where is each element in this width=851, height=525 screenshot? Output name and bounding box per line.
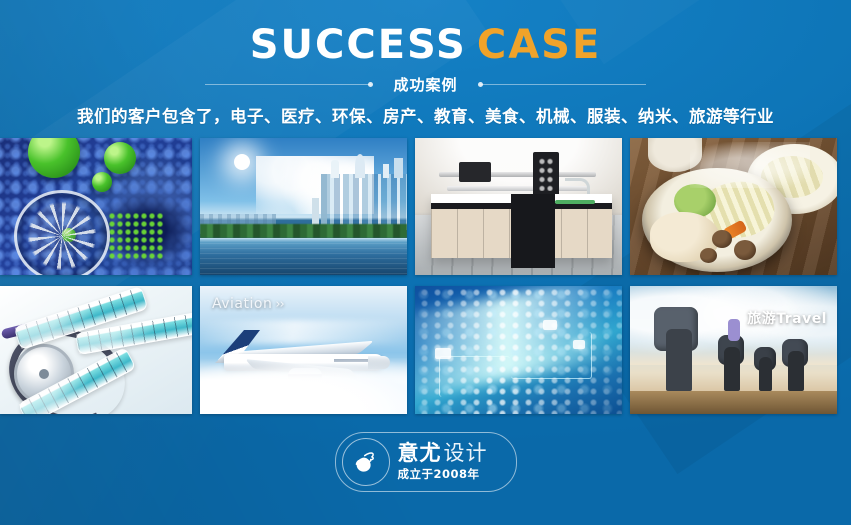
electronics-artwork: [415, 286, 622, 414]
gallery-row-1: [0, 138, 851, 275]
brand-name-bold: 意尤: [398, 441, 442, 465]
caption-aviation: Aviation››: [212, 296, 284, 312]
success-case-banner: SUCCESSCASE 成功案例 我们的客户包含了，电子、医疗、环保、房产、教育…: [0, 0, 851, 525]
chevron-right-icon: ››: [275, 297, 283, 312]
subtitle-cn: 成功案例: [371, 74, 479, 95]
case-gallery: Aviation››: [0, 138, 851, 414]
divider-right: [480, 84, 646, 85]
case-thumb-electronics[interactable]: [415, 286, 622, 414]
case-thumb-nanotech[interactable]: [0, 138, 192, 275]
case-thumb-aviation[interactable]: Aviation››: [200, 286, 407, 414]
food-artwork: [630, 138, 837, 275]
title-case: CASE: [477, 22, 601, 68]
medical-artwork: [0, 286, 192, 414]
title-success: SUCCESS: [250, 22, 467, 68]
tagline: 我们的客户包含了，电子、医疗、环保、房产、教育、美食、机械、服装、纳米、旅游等行…: [0, 103, 851, 127]
divider-left: [205, 84, 371, 85]
brand-text: 意尤设计 成立于2008年: [398, 443, 488, 481]
case-thumb-medical[interactable]: [0, 286, 192, 414]
page-title: SUCCESSCASE: [0, 23, 851, 67]
travel-artwork: [630, 286, 837, 414]
case-thumb-travel[interactable]: 旅游Travel: [630, 286, 837, 414]
caption-travel: 旅游Travel: [747, 308, 827, 328]
brand-mouse-icon: [342, 438, 390, 486]
brand-name: 意尤设计: [398, 443, 488, 464]
subtitle-row: 成功案例: [0, 72, 851, 96]
caption-aviation-label: Aviation: [212, 296, 272, 312]
nanotech-artwork: [0, 138, 192, 275]
environment-artwork: [200, 138, 407, 275]
brand-name-thin: 设计: [444, 441, 488, 465]
laboratory-artwork: [415, 138, 622, 275]
brand-established: 成立于2008年: [398, 469, 488, 481]
case-thumb-laboratory[interactable]: [415, 138, 622, 275]
gallery-row-2: Aviation››: [0, 286, 851, 414]
brand-logo[interactable]: 意尤设计 成立于2008年: [335, 432, 517, 492]
case-thumb-environment[interactable]: [200, 138, 407, 275]
case-thumb-food[interactable]: [630, 138, 837, 275]
